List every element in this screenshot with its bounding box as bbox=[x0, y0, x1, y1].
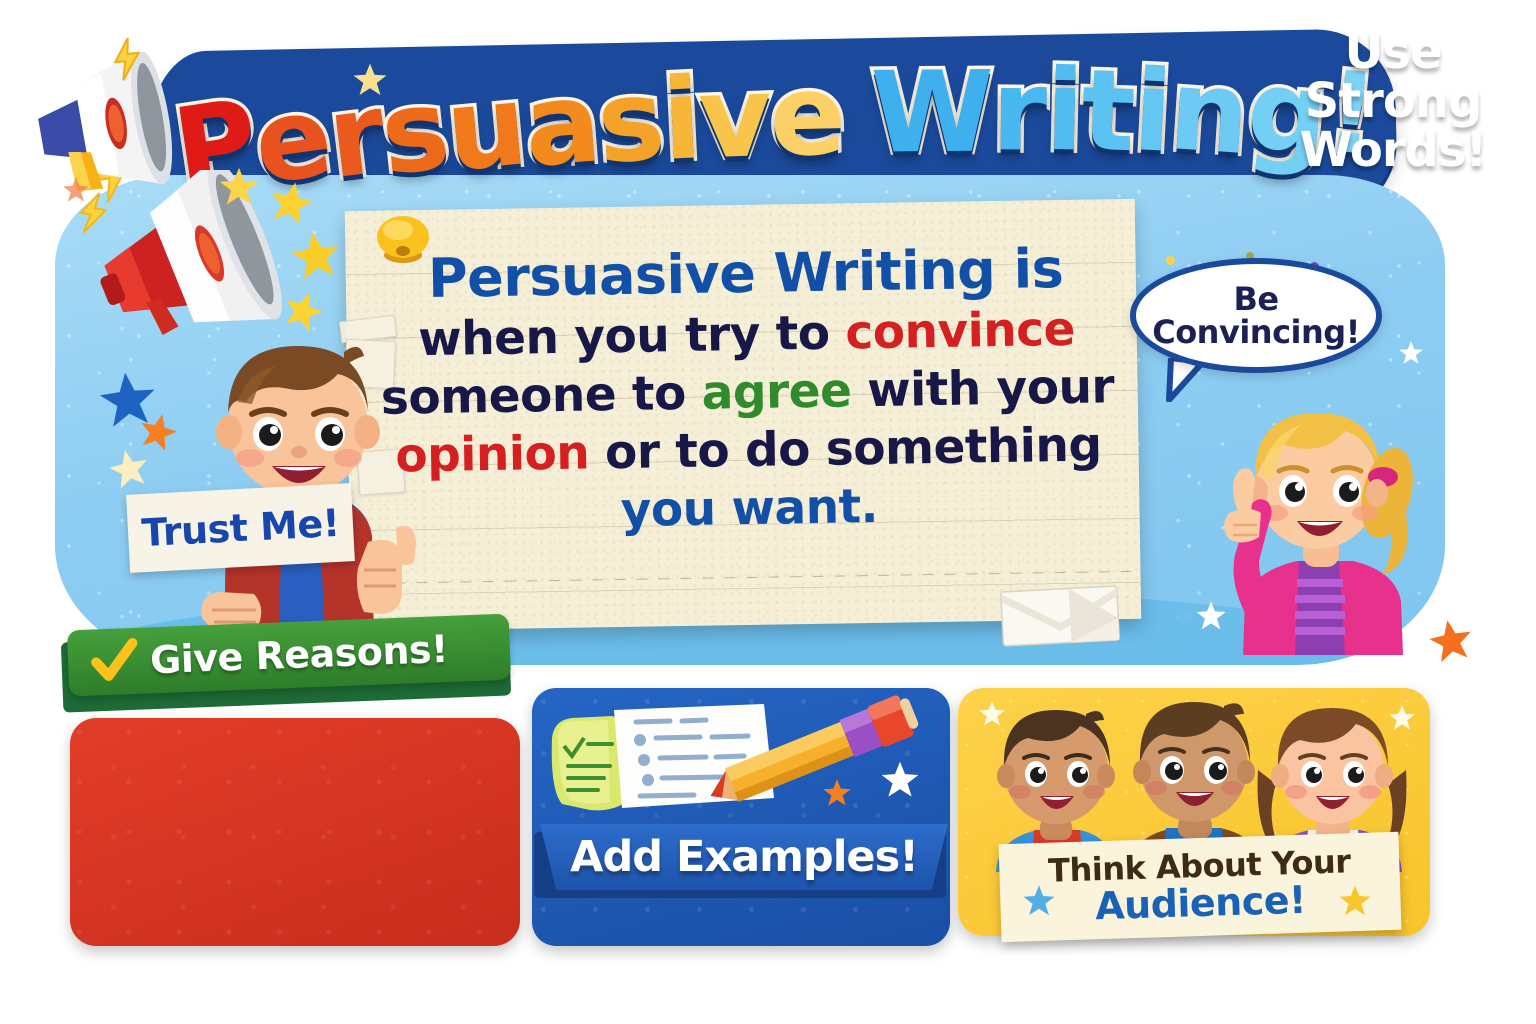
persuasive-writing-poster: PersuasiveWriting! Persuasive Writing is… bbox=[0, 0, 1536, 1024]
trust-me-sign: Trust Me! bbox=[126, 483, 355, 573]
definition-line-4-plain: or to do something bbox=[589, 417, 1102, 480]
speech-line-1: Be bbox=[1233, 283, 1278, 316]
star-icon bbox=[104, 444, 154, 494]
lightning-bolt-icon bbox=[110, 37, 144, 82]
star-icon bbox=[822, 778, 852, 808]
definition-text-block: Persuasive Writing is when you try to co… bbox=[365, 222, 1131, 624]
definition-line-1: Persuasive Writing is bbox=[428, 241, 1064, 306]
girl-character bbox=[1205, 385, 1435, 655]
give-reasons-label: Give Reasons! bbox=[149, 627, 448, 682]
checkmark-icon bbox=[89, 637, 139, 687]
star-icon bbox=[1388, 704, 1416, 732]
definition-line-3-plain-a: someone to bbox=[380, 366, 702, 426]
star-icon bbox=[978, 700, 1006, 728]
confetti-dot bbox=[1166, 256, 1175, 265]
star-icon bbox=[1022, 884, 1056, 918]
definition-line-2-plain: when you try to bbox=[418, 306, 846, 368]
definition-line-3: someone to agree with your bbox=[381, 363, 1115, 422]
pencil-paper-icon bbox=[548, 694, 928, 829]
definition-line-2: when you try to convince bbox=[418, 306, 1075, 364]
keyword-agree: agree bbox=[701, 363, 852, 420]
star-icon bbox=[352, 62, 388, 98]
speech-bubble: Be Convincing! bbox=[1130, 258, 1382, 373]
add-examples-label: Add Examples! bbox=[570, 832, 918, 882]
speech-line-2: Convincing! bbox=[1152, 316, 1360, 349]
keyword-convince: convince bbox=[845, 302, 1075, 361]
use-strong-words-line-1: Use bbox=[1268, 28, 1518, 77]
star-icon bbox=[1338, 884, 1372, 918]
use-strong-words-line-3: Words! bbox=[1268, 126, 1518, 175]
audience-line-2: Audience! bbox=[1095, 881, 1307, 927]
tip-use-strong-words[interactable] bbox=[70, 718, 520, 946]
star-icon bbox=[218, 166, 260, 208]
use-strong-words-label: Use Strong Words! bbox=[1268, 28, 1518, 175]
envelope-icon bbox=[998, 582, 1121, 650]
use-strong-words-line-2: Strong bbox=[1268, 77, 1518, 126]
star-icon bbox=[1398, 340, 1424, 366]
add-examples-banner[interactable]: Add Examples! bbox=[540, 824, 948, 890]
star-icon bbox=[880, 760, 920, 800]
star-icon bbox=[62, 176, 90, 204]
definition-line-5: you want. bbox=[620, 483, 878, 535]
definition-line-3-plain-b: with your bbox=[851, 359, 1115, 418]
trust-me-label: Trust Me! bbox=[140, 501, 340, 555]
definition-line-4: opinion or to do something bbox=[395, 421, 1102, 480]
